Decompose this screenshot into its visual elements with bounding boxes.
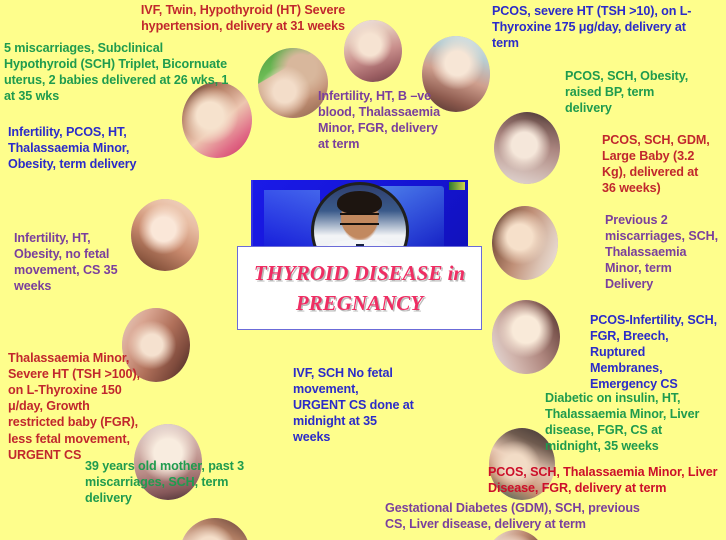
broadcast-logo-icon: [449, 182, 465, 190]
slide-canvas: Dr Sujoy Dasgupta THYROID DISEASE in PRE…: [0, 0, 726, 540]
glasses-icon: [340, 213, 379, 225]
caption-previous-2-miscarriages: Previous 2 miscarriages, SCH, Thalassaem…: [605, 212, 726, 293]
caption-ivf-twin-hypothyroid: IVF, Twin, Hypothyroid (HT) Severe hyper…: [108, 2, 378, 34]
caption-pcos-sch-thalassaemia-liver: PCOS, SCH, Thalassaemia Minor, Liver Dis…: [488, 464, 726, 496]
caption-pcos-sch-gdm-large-baby: PCOS, SCH, GDM, Large Baby (3.2 Kg), del…: [602, 132, 722, 196]
photo-mother-blue-top-newborn: [492, 206, 558, 280]
caption-pcos-severe-ht-tsh10: PCOS, severe HT (TSH >10), on L- Thyroxi…: [492, 3, 712, 51]
caption-infertility-ht-obesity: Infertility, HT, Obesity, no fetal movem…: [14, 230, 144, 294]
presentation-title-card: THYROID DISEASE in PREGNANCY: [237, 246, 482, 330]
caption-gestational-diabetes-gdm: Gestational Diabetes (GDM), SCH, previou…: [385, 500, 660, 532]
photo-newborn-teal-towel: [180, 518, 250, 540]
photo-mother-smiling-closeup: [494, 112, 560, 184]
caption-infertility-pcos-ht: Infertility, PCOS, HT, Thalassaemia Mino…: [8, 124, 188, 172]
caption-infertility-ht-bneg: Infertility, HT, B –ve blood, Thalassaem…: [318, 88, 468, 152]
caption-thirty-nine-year-mother: 39 years old mother, past 3 miscarriages…: [85, 458, 285, 506]
title-line-2: PREGNANCY: [296, 288, 423, 318]
title-line-1: THYROID DISEASE in: [254, 258, 465, 288]
caption-thalassaemia-severe-ht: Thalassaemia Minor, Severe HT (TSH >100)…: [8, 350, 158, 463]
caption-ivf-sch-no-fetal-movement: IVF, SCH No fetal movement, URGENT CS do…: [293, 365, 428, 446]
caption-pcos-sch-obesity: PCOS, SCH, Obesity, raised BP, term deli…: [565, 68, 700, 116]
caption-pcos-infertility-sch-fgr: PCOS-Infertility, SCH, FGR, Breech, Rupt…: [590, 312, 726, 393]
photo-mother-maroon-baby: [492, 300, 560, 374]
caption-diabetic-on-insulin: Diabetic on insulin, HT, Thalassaemia Mi…: [545, 390, 726, 454]
caption-five-miscarriages-sch: 5 miscarriages, Subclinical Hypothyroid …: [4, 40, 254, 104]
